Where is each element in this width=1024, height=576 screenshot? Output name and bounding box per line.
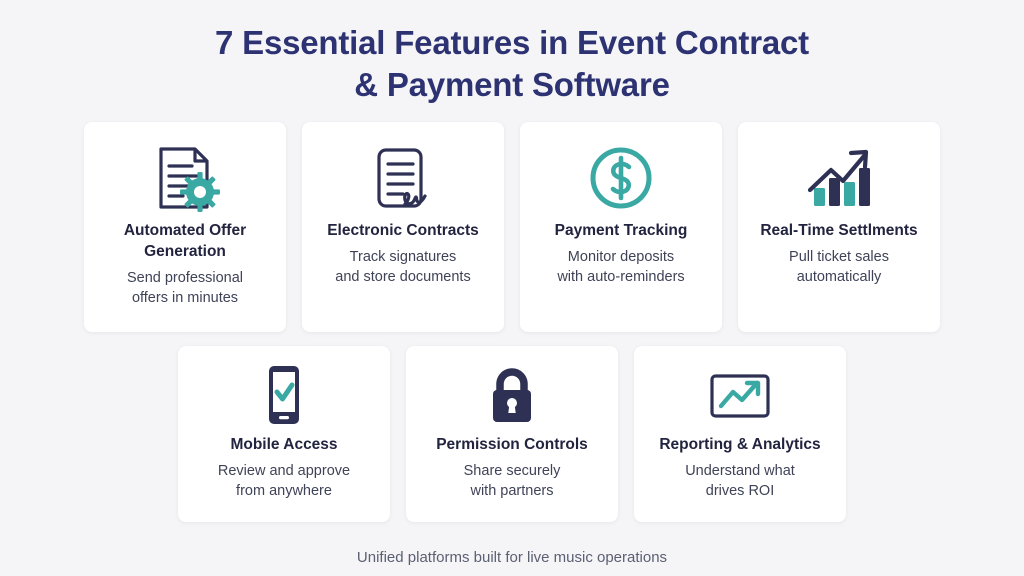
feature-card-reporting-analytics[interactable]: Reporting & Analytics Understand what dr… [634,346,846,522]
document-signature-icon [365,140,441,216]
feature-card-electronic-contracts[interactable]: Electronic Contracts Track signatures an… [302,122,504,332]
infographic-slide: 7 Essential Features in Event Contract &… [0,0,1024,576]
feature-card-desc-line-2: offers in minutes [132,288,238,308]
feature-row-bottom: Mobile Access Review and approve from an… [40,346,984,522]
trend-screen-icon [704,360,776,432]
document-gear-icon [147,140,223,216]
page-title: 7 Essential Features in Event Contract &… [40,22,984,106]
page-title-line-1: 7 Essential Features in Event Contract [40,22,984,64]
feature-card-desc-line-1: Send professional [127,268,243,288]
feature-card-desc-line-2: automatically [797,267,882,287]
feature-card-title: Reporting & Analytics [659,434,820,455]
feature-card-title: Automated Offer Generation [98,220,272,262]
feature-card-permission-controls[interactable]: Permission Controls Share securely with … [406,346,618,522]
feature-card-payment-tracking[interactable]: Payment Tracking Monitor deposits with a… [520,122,722,332]
feature-card-desc-line-2: from anywhere [236,481,332,501]
feature-card-desc-line-1: Review and approve [218,461,350,481]
feature-card-mobile-access[interactable]: Mobile Access Review and approve from an… [178,346,390,522]
feature-card-title: Real-Time Settlments [760,220,917,241]
feature-card-desc-line-1: Monitor deposits [568,247,674,267]
feature-card-title: Mobile Access [230,434,337,455]
feature-card-desc-line-2: and store documents [335,267,470,287]
footer-tagline: Unified platforms built for live music o… [357,535,667,566]
feature-card-desc-line-1: Understand what [685,461,795,481]
feature-card-real-time-settlements[interactable]: Real-Time Settlments Pull ticket sales a… [738,122,940,332]
feature-card-title: Permission Controls [436,434,588,455]
feature-card-title: Electronic Contracts [327,220,479,241]
feature-card-desc-line-1: Pull ticket sales [789,247,889,267]
feature-card-automated-offer-generation[interactable]: Automated Offer Generation Send professi… [84,122,286,332]
page-title-line-2: & Payment Software [40,64,984,106]
feature-card-desc-line-1: Track signatures [350,247,457,267]
mobile-check-icon [248,360,320,432]
feature-card-title: Payment Tracking [555,220,688,241]
feature-card-desc-line-1: Share securely [464,461,561,481]
padlock-icon [476,360,548,432]
bar-chart-arrow-icon [801,140,877,216]
feature-card-desc-line-2: with auto-reminders [557,267,684,287]
feature-card-desc-line-2: drives ROI [706,481,775,501]
feature-card-desc-line-2: with partners [470,481,553,501]
dollar-circle-icon [583,140,659,216]
feature-row-top: Automated Offer Generation Send professi… [40,122,984,332]
